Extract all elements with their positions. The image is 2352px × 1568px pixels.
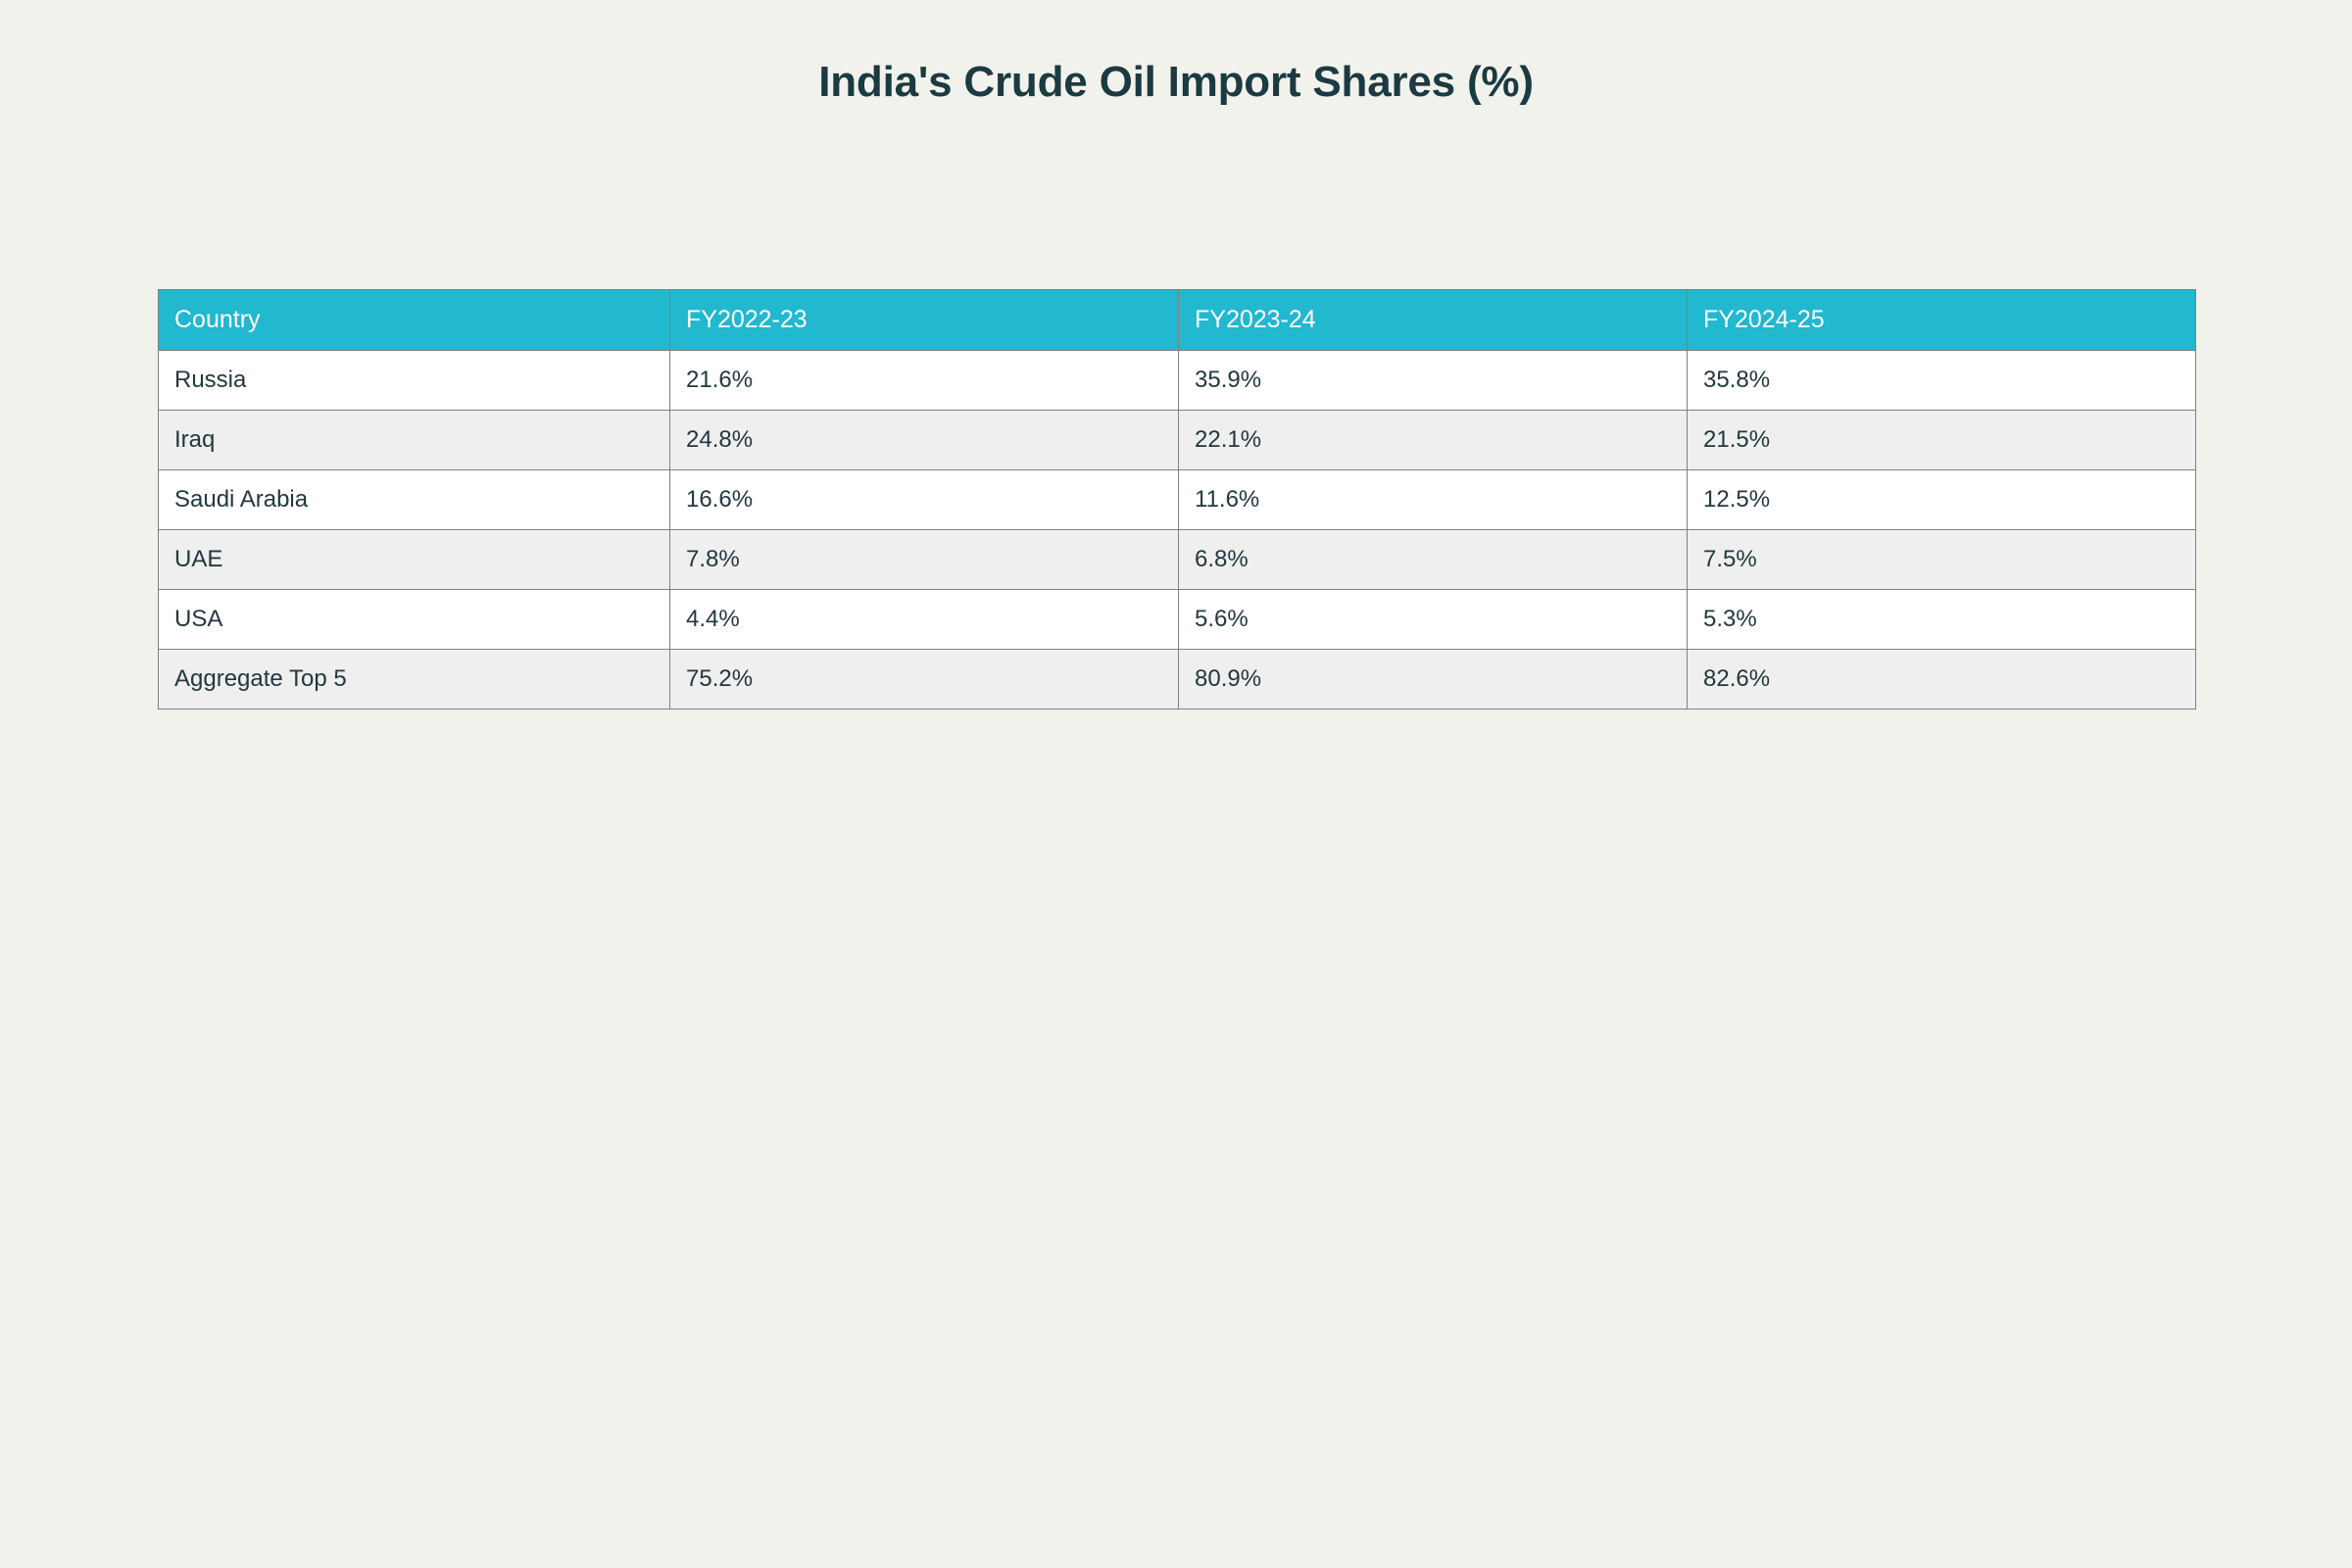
cell-fy2024-25: 12.5% (1688, 470, 2196, 530)
cell-fy2023-24: 22.1% (1179, 411, 1688, 470)
cell-fy2024-25: 82.6% (1688, 650, 2196, 710)
column-header-fy2024-25[interactable]: FY2024-25 (1688, 290, 2196, 351)
table-row: Iraq 24.8% 22.1% 21.5% (159, 411, 2196, 470)
column-header-fy2022-23[interactable]: FY2022-23 (670, 290, 1179, 351)
table-body: Russia 21.6% 35.9% 35.8% Iraq 24.8% 22.1… (159, 351, 2196, 710)
cell-country: UAE (159, 530, 670, 590)
cell-country: Iraq (159, 411, 670, 470)
cell-fy2022-23: 24.8% (670, 411, 1179, 470)
cell-fy2022-23: 7.8% (670, 530, 1179, 590)
cell-fy2024-25: 7.5% (1688, 530, 2196, 590)
cell-country: Saudi Arabia (159, 470, 670, 530)
cell-fy2022-23: 75.2% (670, 650, 1179, 710)
cell-fy2022-23: 16.6% (670, 470, 1179, 530)
table-row: USA 4.4% 5.6% 5.3% (159, 590, 2196, 650)
cell-fy2024-25: 5.3% (1688, 590, 2196, 650)
column-header-country[interactable]: Country (159, 290, 670, 351)
table-row-aggregate: Aggregate Top 5 75.2% 80.9% 82.6% (159, 650, 2196, 710)
cell-fy2022-23: 21.6% (670, 351, 1179, 411)
cell-country: Russia (159, 351, 670, 411)
table-row: Russia 21.6% 35.9% 35.8% (159, 351, 2196, 411)
table-container: Country FY2022-23 FY2023-24 FY2024-25 Ru… (158, 289, 2195, 710)
cell-fy2024-25: 21.5% (1688, 411, 2196, 470)
cell-fy2022-23: 4.4% (670, 590, 1179, 650)
page-title: India's Crude Oil Import Shares (%) (0, 59, 2352, 106)
cell-fy2023-24: 80.9% (1179, 650, 1688, 710)
cell-fy2024-25: 35.8% (1688, 351, 2196, 411)
table-row: UAE 7.8% 6.8% 7.5% (159, 530, 2196, 590)
cell-fy2023-24: 35.9% (1179, 351, 1688, 411)
cell-fy2023-24: 11.6% (1179, 470, 1688, 530)
column-header-fy2023-24[interactable]: FY2023-24 (1179, 290, 1688, 351)
table-header: Country FY2022-23 FY2023-24 FY2024-25 (159, 290, 2196, 351)
import-shares-table: Country FY2022-23 FY2023-24 FY2024-25 Ru… (158, 289, 2196, 710)
cell-fy2023-24: 5.6% (1179, 590, 1688, 650)
page-root: India's Crude Oil Import Shares (%) Coun… (0, 0, 2352, 1568)
cell-fy2023-24: 6.8% (1179, 530, 1688, 590)
cell-country: Aggregate Top 5 (159, 650, 670, 710)
table-header-row: Country FY2022-23 FY2023-24 FY2024-25 (159, 290, 2196, 351)
cell-country: USA (159, 590, 670, 650)
table-row: Saudi Arabia 16.6% 11.6% 12.5% (159, 470, 2196, 530)
